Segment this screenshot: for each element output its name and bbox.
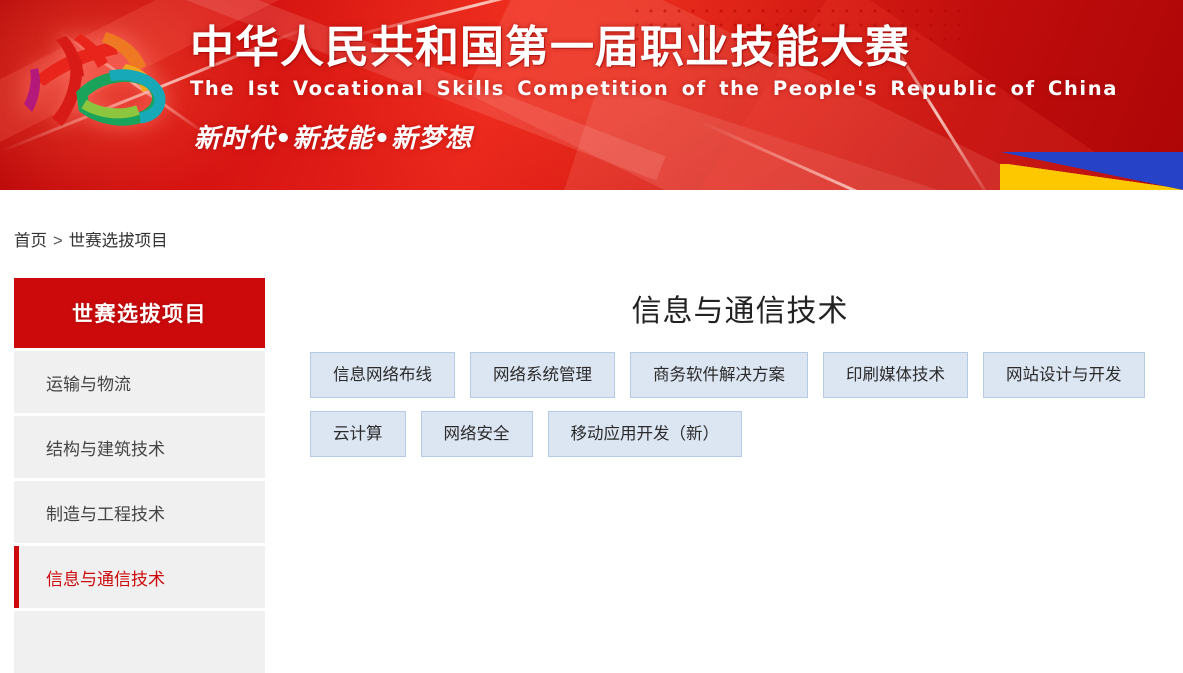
sidebar-item-manufacturing-engineering[interactable]: 制造与工程技术 bbox=[14, 481, 265, 543]
skill-tag-print-media-technology[interactable]: 印刷媒体技术 bbox=[823, 352, 968, 398]
skill-tag-it-network-systems-administration[interactable]: 网络系统管理 bbox=[470, 352, 615, 398]
skill-tag-web-technologies[interactable]: 网站设计与开发 bbox=[983, 352, 1145, 398]
skill-tag-cloud-computing[interactable]: 云计算 bbox=[310, 411, 406, 457]
page-title: 信息与通信技术 bbox=[310, 278, 1170, 332]
skill-tag-mobile-applications-development[interactable]: 移动应用开发（新） bbox=[548, 411, 743, 457]
page-content: 世赛选拔项目 运输与物流 结构与建筑技术 制造与工程技术 信息与通信技术 信息与… bbox=[0, 278, 1183, 612]
sidebar-item-label: 运输与物流 bbox=[46, 370, 131, 395]
breadcrumb-separator: > bbox=[53, 232, 63, 250]
skill-tag-cyber-security[interactable]: 网络安全 bbox=[421, 411, 533, 457]
sidebar-item-next-partial[interactable] bbox=[14, 611, 265, 673]
skill-tag-list: 信息网络布线 网络系统管理 商务软件解决方案 印刷媒体技术 网站设计与开发 云计… bbox=[310, 352, 1170, 457]
sidebar-item-information-communication[interactable]: 信息与通信技术 bbox=[14, 546, 265, 608]
banner-corner-blue bbox=[1001, 152, 1183, 190]
sidebar-item-label: 结构与建筑技术 bbox=[46, 435, 165, 460]
breadcrumb-item-home[interactable]: 首页 bbox=[14, 232, 47, 250]
sidebar-item-label: 制造与工程技术 bbox=[46, 500, 165, 525]
skill-tag-it-software-solutions-for-business[interactable]: 商务软件解决方案 bbox=[630, 352, 808, 398]
sidebar-item-construction-building[interactable]: 结构与建筑技术 bbox=[14, 416, 265, 478]
sidebar: 世赛选拔项目 运输与物流 结构与建筑技术 制造与工程技术 信息与通信技术 bbox=[14, 278, 265, 673]
banner-title-cn: 中华人民共和国第一届职业技能大赛 bbox=[190, 22, 1150, 74]
site-banner: 中华人民共和国第一届职业技能大赛 The Ist Vocational Skil… bbox=[0, 0, 1183, 190]
skills-competition-emblem-icon bbox=[22, 16, 180, 142]
sidebar-item-transport-logistics[interactable]: 运输与物流 bbox=[14, 351, 265, 413]
breadcrumb-item-current[interactable]: 世赛选拔项目 bbox=[69, 232, 168, 250]
sidebar-heading: 世赛选拔项目 bbox=[14, 278, 265, 348]
sidebar-item-label: 信息与通信技术 bbox=[46, 565, 165, 590]
banner-title-en: The Ist Vocational Skills Competition of… bbox=[190, 76, 1150, 102]
skill-tag-network-cabling[interactable]: 信息网络布线 bbox=[310, 352, 455, 398]
main-panel: 信息与通信技术 信息网络布线 网络系统管理 商务软件解决方案 印刷媒体技术 网站… bbox=[310, 278, 1170, 457]
banner-slogan: 新时代•新技能•新梦想 bbox=[194, 118, 472, 155]
banner-title-group: 中华人民共和国第一届职业技能大赛 The Ist Vocational Skil… bbox=[190, 22, 1150, 102]
breadcrumb: 首页>世赛选拔项目 bbox=[14, 228, 168, 254]
